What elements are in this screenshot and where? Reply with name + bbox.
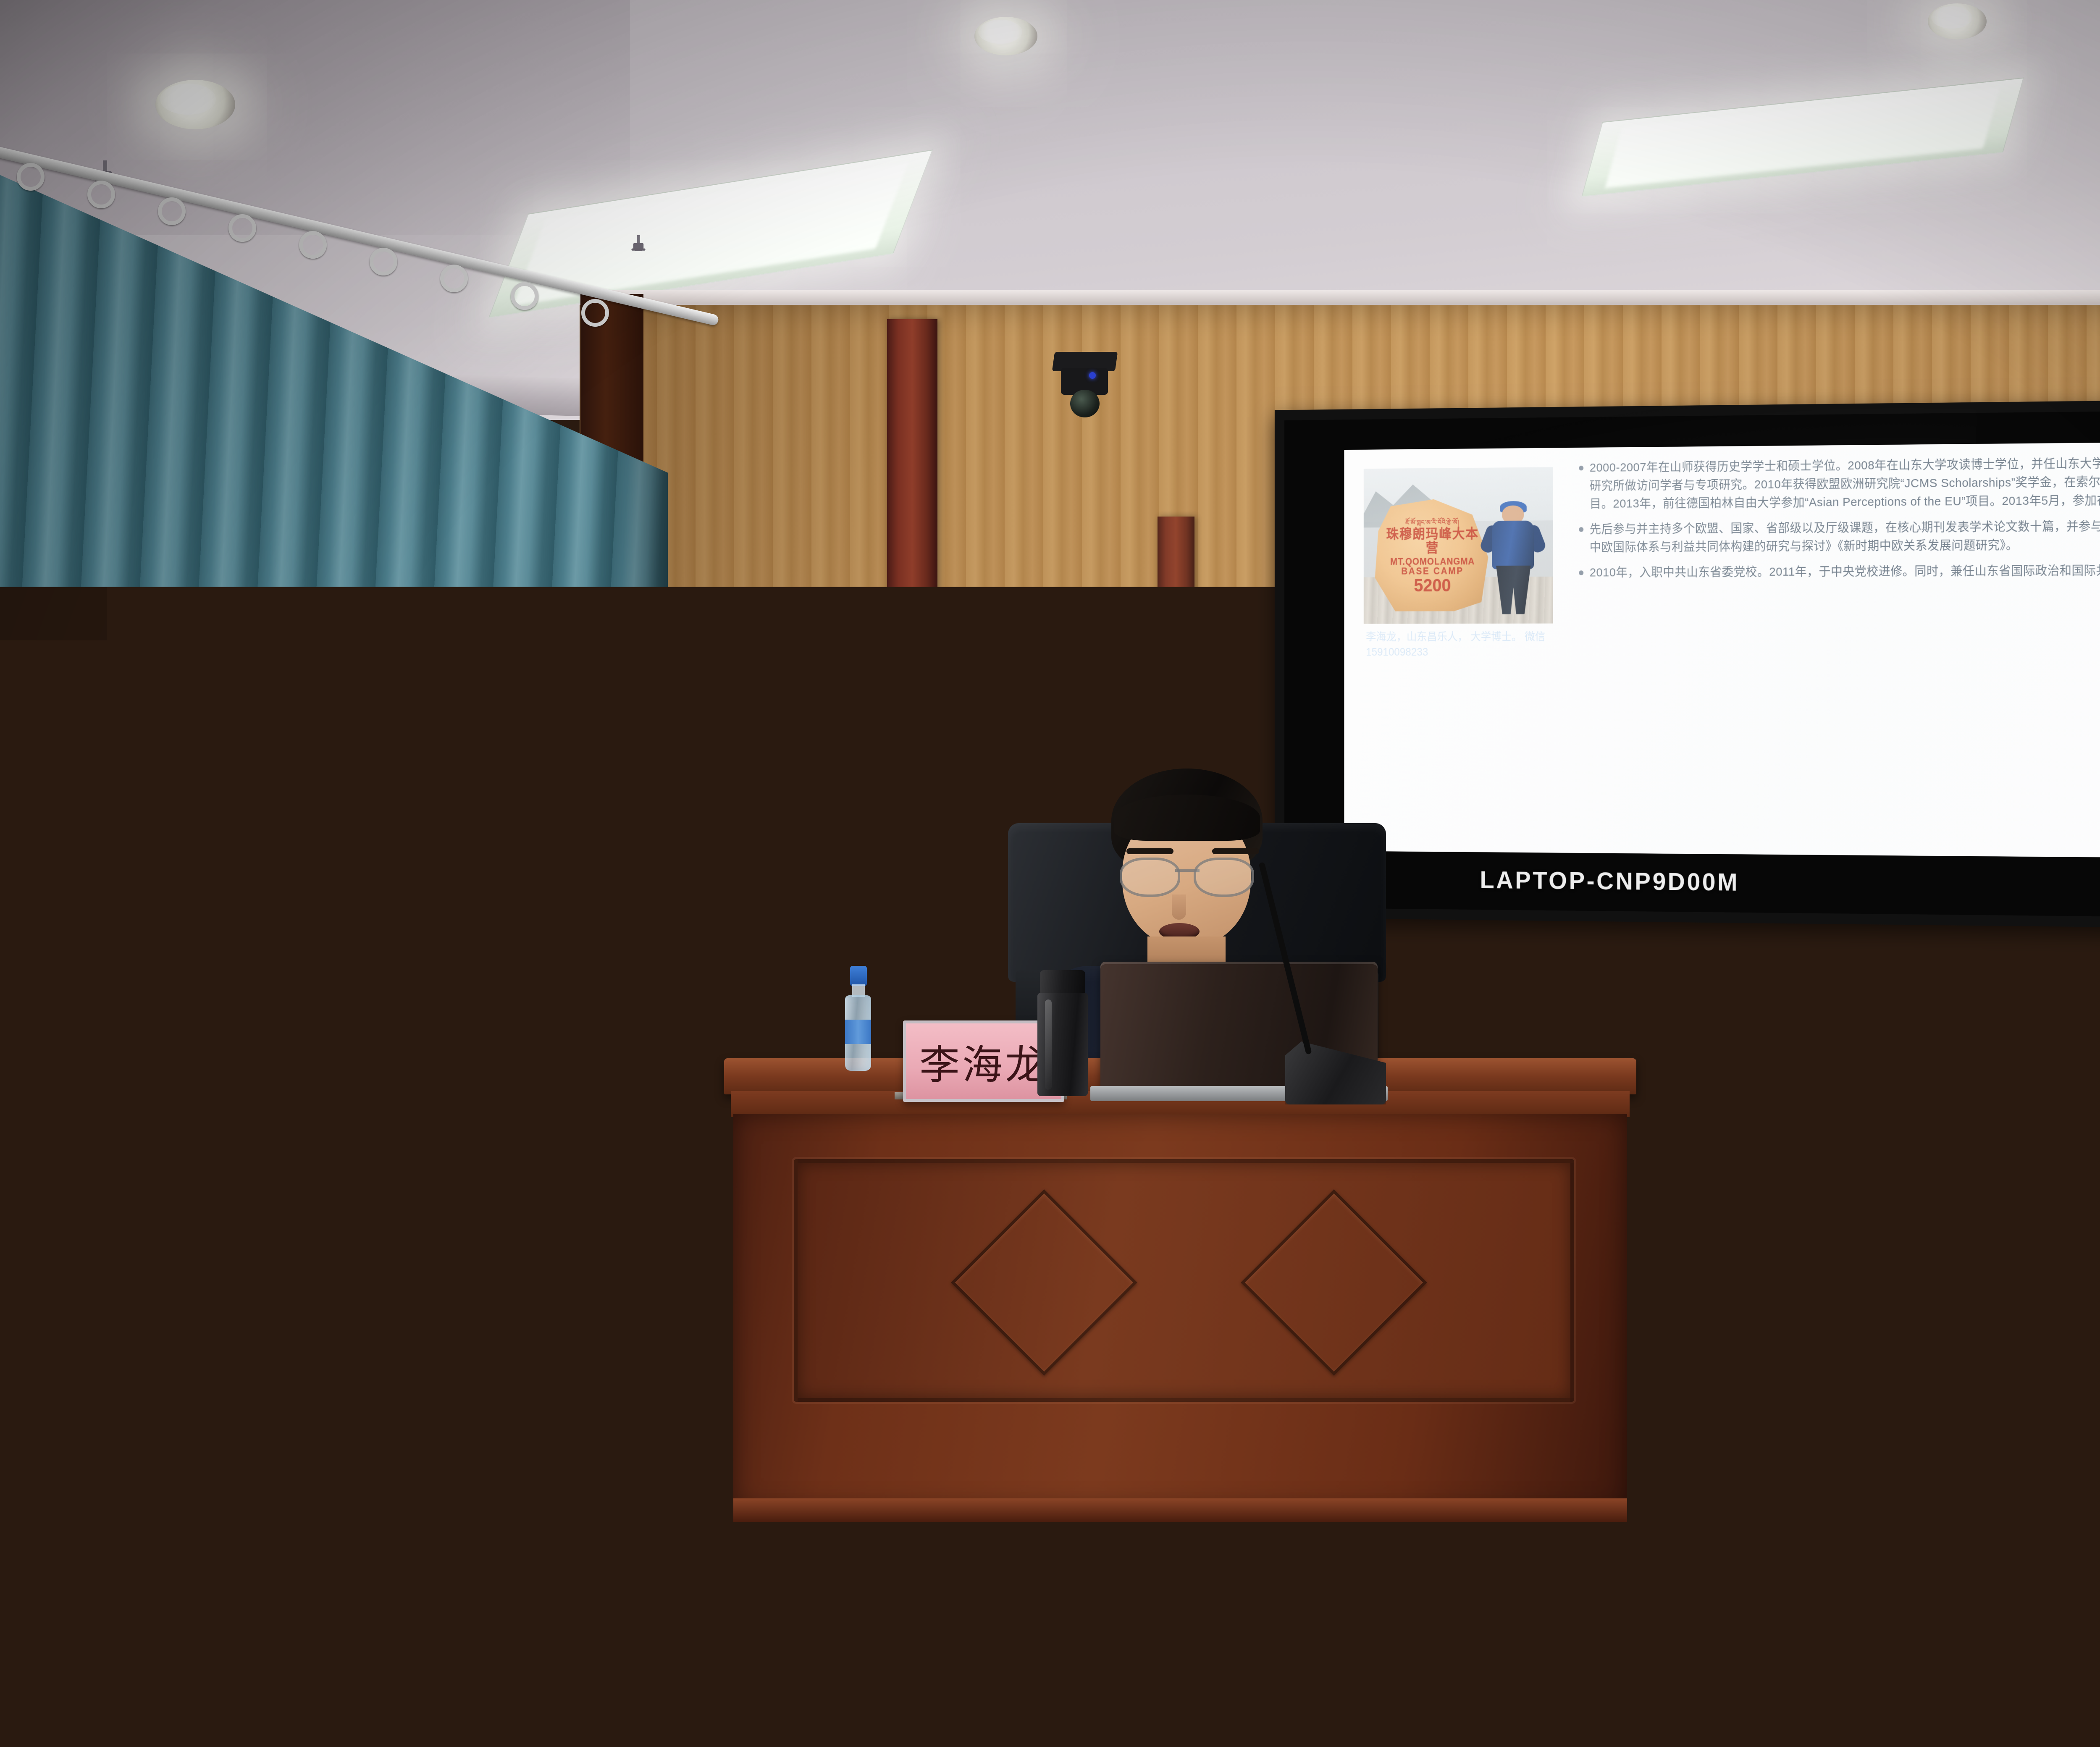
bullet-dot-icon [1579,527,1583,532]
photo-altitude-value: 5200 [1381,577,1484,595]
slide-bullet-text: 2000-2007年在山师获得历史学学士和硕士学位。2008年在山东大学攻读博士… [1590,449,2100,513]
eyeglasses-icon [1120,858,1254,894]
downlight-1 [155,80,235,129]
lectern-microphone[interactable] [458,697,465,836]
curtain-grommet [299,231,327,259]
nameplate-text: 李海龙 [919,1032,1048,1091]
bottle-cap-icon [850,966,867,986]
photo-title-chinese: 珠穆朗玛峰大本营 [1381,527,1484,555]
lecture-hall-photo: ཇོ་མོ་གླང་མ་རི་བོའི་རྩེ་མོ། 珠穆朗玛峰大本营 MT.… [0,0,2100,1747]
photo-person [1488,498,1538,614]
everest-base-camp-photo: ཇོ་མོ་གླང་མ་རི་བོའི་རྩེ་མོ། 珠穆朗玛峰大本营 MT.… [1364,467,1553,624]
slide-bullet-list: 2000-2007年在山师获得历史学学士和硕士学位。2008年在山东大学攻读博士… [1579,449,2100,589]
photo-title-english-2: BASE CAMP [1381,566,1484,576]
desk-front-panel [794,1159,1574,1402]
curtain-grommet [581,299,609,327]
downlight-2 [974,17,1037,55]
projection-screen: ཇོ་མོ་གླང་མ་རི་བོའི་རྩེ་མོ། 珠穆朗玛峰大本营 MT.… [1275,395,2100,933]
water-bottle[interactable] [844,966,872,1071]
list-item: 2010年，入职中共山东省委党校。2011年，于中央党校进修。同时，兼任山东省国… [1579,559,2100,582]
presentation-slide: ཇོ་མོ་གླང་མ་རི་བོའི་རྩེ་མོ། 珠穆朗玛峰大本营 MT.… [1344,437,2100,862]
slide-bullet-text: 先后参与并主持多个欧盟、国家、省部级以及厅级课题，在核心期刊发表学术论文数十篇，… [1590,513,2100,556]
presenter-desk [731,1058,1630,1541]
curtain-grommet [228,214,256,242]
list-item: 先后参与并主持多个欧盟、国家、省部级以及厅级课题，在核心期刊发表学术论文数十篇，… [1579,513,2100,556]
slide-bullet-text: 2010年，入职中共山东省委党校。2011年，于中央党校进修。同时，兼任山东省国… [1590,559,2100,582]
curtain-grommet [158,197,186,225]
ptz-camera-icon [1049,352,1125,423]
desk-gooseneck-microphone[interactable] [1289,857,1441,1100]
list-item: 2000-2007年在山师获得历史学学士和硕士学位。2008年在山东大学攻读博士… [1579,449,2100,513]
door-hinge-top [1015,694,1026,711]
wall-top-trim [580,290,2100,305]
curtain-grommet [440,265,468,292]
diamond-carving-left [951,1189,1137,1376]
leather-chair-mid[interactable] [517,832,706,1176]
photo-tibetan-text: ཇོ་མོ་གླང་མ་རི་བོའི་རྩེ་མོ། [1381,519,1484,526]
curtain-grommet [87,181,115,208]
slide-caption: 李海龙，山东昌乐人， 大学博士。 微信 15910098233 [1366,629,1563,660]
downlight-3 [1928,3,1987,39]
bullet-dot-icon [1579,466,1583,471]
diamond-carving-right [1241,1189,1427,1376]
curtain-grommet [370,248,397,275]
microphone-status-led [1252,741,1262,750]
curtain-grommet [17,163,45,191]
photo-title-english-1: MT.QOMOLANGMA [1381,556,1484,567]
wooden-lectern[interactable] [168,823,538,1411]
bullet-dot-icon [1579,570,1583,575]
thermos-flask[interactable] [1037,970,1088,1096]
curtain-grommet [511,282,538,310]
microphone-base [1285,1041,1386,1104]
wireless-display-device-name: LAPTOP-CNP9D00M [1480,866,1740,897]
